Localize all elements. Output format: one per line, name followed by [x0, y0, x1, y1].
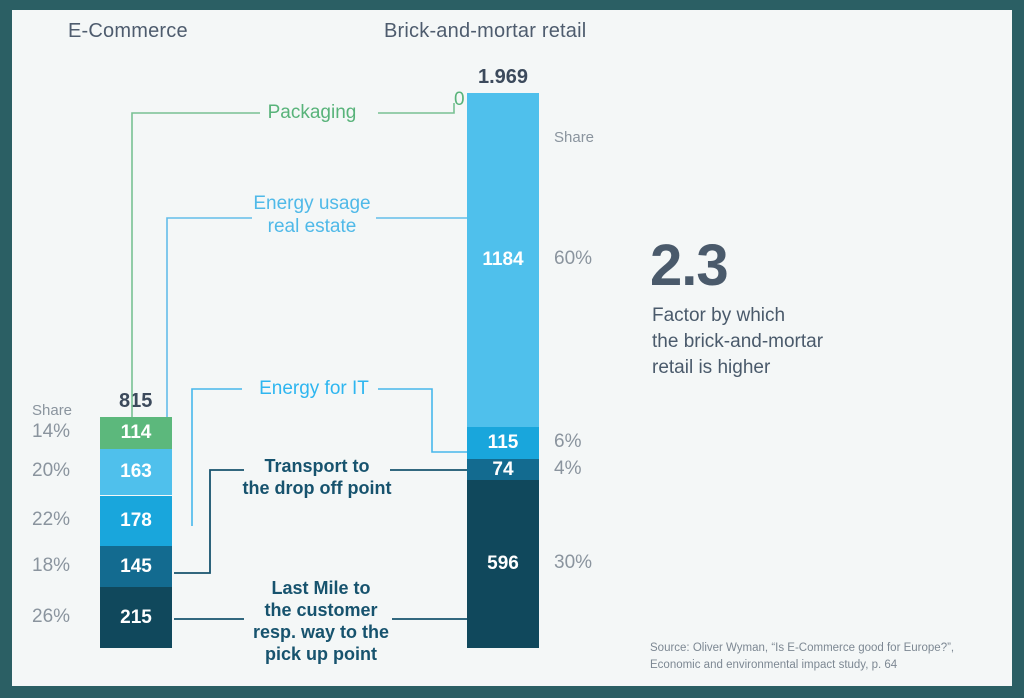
- category-label-energy-for-it: Energy for IT: [234, 377, 394, 400]
- source-note: Source: Oliver Wyman, “Is E-Commerce goo…: [650, 640, 1006, 675]
- packaging-zero-value: 0: [454, 89, 465, 111]
- page-border: E-Commerce Brick-and-mortar retail 815 1…: [0, 0, 1024, 698]
- bar-segment[interactable]: 1184: [467, 93, 539, 427]
- category-label-energy-usage-real-estate: Energy usage real estate: [222, 192, 402, 238]
- total-value-ecommerce: 815: [119, 390, 152, 413]
- category-label-last-mile: Last Mile to the customer resp. way to t…: [230, 578, 412, 666]
- bar-segment[interactable]: 145: [100, 546, 172, 587]
- column-title-ecommerce: E-Commerce: [68, 20, 188, 43]
- share-value: 30%: [554, 552, 592, 574]
- share-value: 6%: [554, 431, 581, 453]
- bar-segment[interactable]: 178: [100, 496, 172, 546]
- share-value: 4%: [554, 458, 581, 480]
- column-title-brick-and-mortar: Brick-and-mortar retail: [384, 20, 586, 43]
- total-value-brick-and-mortar: 1.969: [478, 66, 528, 89]
- stacked-bar-brick-and-mortar[interactable]: 118411574596: [467, 93, 539, 648]
- share-value: 18%: [32, 555, 70, 577]
- stacked-bar-ecommerce[interactable]: 114163178145215: [100, 417, 172, 648]
- infographic-canvas: E-Commerce Brick-and-mortar retail 815 1…: [12, 10, 1012, 686]
- share-value: 20%: [32, 460, 70, 482]
- bar-segment[interactable]: 215: [100, 587, 172, 648]
- share-value: 14%: [32, 421, 70, 443]
- share-value: 60%: [554, 248, 592, 270]
- bar-segment[interactable]: 115: [467, 427, 539, 459]
- bar-segment[interactable]: 114: [100, 417, 172, 449]
- share-value: 22%: [32, 509, 70, 531]
- factor-value: 2.3: [650, 232, 728, 299]
- category-label-transport-drop-off: Transport to the drop off point: [224, 456, 410, 500]
- bar-segment[interactable]: 596: [467, 480, 539, 648]
- share-value: 26%: [32, 606, 70, 628]
- bar-segment[interactable]: 74: [467, 459, 539, 480]
- factor-description: Factor by which the brick-and-mortar ret…: [652, 303, 912, 382]
- bar-segment[interactable]: 163: [100, 449, 172, 495]
- share-header-right: Share: [554, 129, 594, 146]
- category-label-packaging: Packaging: [252, 101, 372, 124]
- share-header-left: Share: [32, 402, 72, 419]
